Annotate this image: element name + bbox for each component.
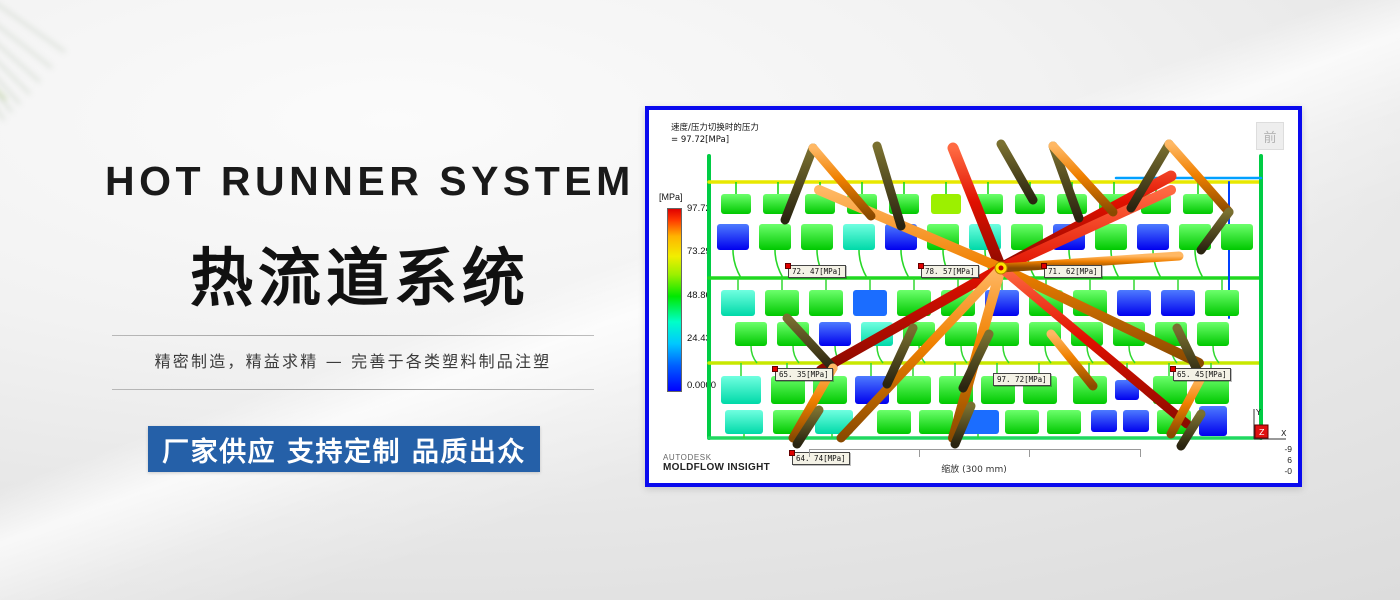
- axis-readout: -9 6 -0: [1284, 444, 1292, 477]
- divider-bottom: [112, 389, 594, 390]
- banner-stage: HOT RUNNER SYSTEM 热流道系统 精密制造，精益求精 — 完善于各…: [0, 0, 1400, 600]
- value-callout: 71. 62[MPa]: [1044, 265, 1102, 278]
- callout-marker: [1041, 263, 1047, 269]
- axis-readout-1: 6: [1284, 455, 1292, 466]
- divider-top: [112, 335, 594, 336]
- callout-marker: [1170, 366, 1176, 372]
- svg-text:X: X: [1281, 429, 1287, 438]
- brand-moldflow-insight: MOLDFLOW INSIGHT: [663, 463, 770, 473]
- tagline: 精密制造，精益求精 — 完善于各类塑料制品注塑: [112, 348, 594, 372]
- svg-text:Y: Y: [1255, 408, 1261, 417]
- callout-marker: [789, 450, 795, 456]
- moldflow-geometry: [701, 138, 1291, 458]
- callout-marker: [785, 263, 791, 269]
- axis-readout-0: -9: [1284, 444, 1292, 455]
- english-title: HOT RUNNER SYSTEM: [105, 158, 605, 205]
- colorbar-gradient: [667, 208, 682, 392]
- chinese-title: 热流道系统: [150, 228, 570, 319]
- axis-readout-2: -0: [1284, 466, 1292, 477]
- autodesk-branding: AUTODESK MOLDFLOW INSIGHT: [663, 453, 770, 473]
- scale-bar: [809, 449, 1141, 457]
- value-callout: 65. 35[MPa]: [775, 368, 833, 381]
- scale-tick: [919, 450, 920, 457]
- colorbar-unit-label: [MPa]: [659, 192, 683, 202]
- axis-triad-icon: Z Y X: [1250, 405, 1290, 443]
- callout-marker: [918, 263, 924, 269]
- simulation-header-line1: 速度/压力切换时的压力: [671, 122, 759, 134]
- value-callout: 72. 47[MPa]: [788, 265, 846, 278]
- value-callout-peak: 97. 72[MPa]: [993, 373, 1051, 386]
- simulation-canvas[interactable]: 速度/压力切换时的压力 = 97.72[MPa] 前 [MPa] 97.72 7…: [649, 110, 1298, 483]
- callout-marker: [772, 366, 778, 372]
- scale-bar-label: 缩放 (300 mm): [809, 462, 1139, 475]
- scale-tick: [1029, 450, 1030, 457]
- svg-text:Z: Z: [1259, 428, 1265, 437]
- value-callout: 65. 45[MPa]: [1173, 368, 1231, 381]
- headline-block: HOT RUNNER SYSTEM 热流道系统 精密制造，精益求精 — 完善于各…: [0, 0, 640, 600]
- moldflow-simulation-panel[interactable]: 速度/压力切换时的压力 = 97.72[MPa] 前 [MPa] 97.72 7…: [645, 106, 1302, 487]
- value-callout: 78. 57[MPa]: [921, 265, 979, 278]
- cta-button[interactable]: 厂家供应 支持定制 品质出众: [148, 426, 540, 472]
